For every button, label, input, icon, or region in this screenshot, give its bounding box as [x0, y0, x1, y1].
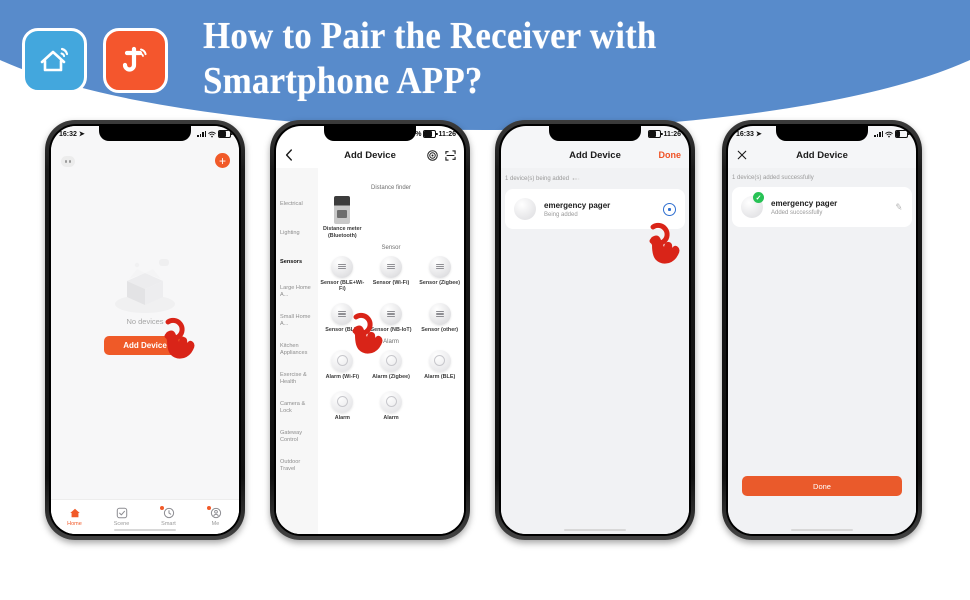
battery-icon: [895, 130, 908, 138]
device-label: Sensor (other): [421, 327, 458, 334]
adding-status-text: 1 device(s) being added: [501, 168, 689, 189]
tab-me-label: Me: [212, 521, 220, 527]
group-title-alarm: Alarm: [318, 339, 464, 345]
home-indicator: [791, 529, 853, 532]
notch: [776, 126, 868, 141]
category-outdoor-travel[interactable]: Outdoor Travel: [276, 451, 318, 480]
close-button[interactable]: [737, 150, 747, 160]
added-status-text: 1 device(s) added successfully: [728, 168, 916, 187]
notch: [324, 126, 416, 141]
alarm-icon: [331, 391, 353, 413]
device-orb-icon: ✓: [741, 196, 763, 218]
device-alarm-ble[interactable]: Alarm (BLE): [415, 350, 464, 381]
device-card-text: emergency pager Being added: [544, 201, 655, 218]
profile-icon: [210, 507, 222, 519]
sensor-icon: [331, 256, 353, 278]
device-alarm-wifi[interactable]: Alarm (Wi-Fi): [318, 350, 367, 381]
title-line-2: Smartphone APP?: [203, 59, 657, 104]
device-orb-icon: [514, 198, 536, 220]
pencil-icon[interactable]: ✎: [895, 201, 904, 213]
notch: [549, 126, 641, 141]
phone-1-screen: 16:32 ➤ +: [51, 126, 239, 534]
tab-scene-label: Scene: [114, 521, 130, 527]
tab-me[interactable]: Me: [192, 507, 239, 527]
device-status: Added successfully: [771, 210, 887, 216]
device-card[interactable]: ✓ emergency pager Added successfully ✎: [732, 187, 912, 227]
device-label: Alarm (Wi-Fi): [326, 374, 360, 381]
status-time: 16:32: [59, 131, 77, 138]
phone-3-content: 1 device(s) being added emergency pager …: [501, 168, 689, 534]
devices-chip-icon[interactable]: [61, 156, 75, 167]
device-status: Being added: [544, 212, 655, 218]
empty-state: No devices Add Device: [51, 251, 239, 355]
app-bar-4: Add Device: [728, 142, 916, 168]
phone-4-screen: 16:33 ➤ Add Device 1 device(s) added suc…: [728, 126, 916, 534]
device-alarm-zigbee[interactable]: Alarm (Zigbee): [367, 350, 416, 381]
app-bar-2: Add Device: [276, 142, 464, 168]
phone-mockup-4: 16:33 ➤ Add Device 1 device(s) added suc…: [722, 120, 922, 540]
phone-1-bezel: 16:32 ➤ +: [49, 124, 241, 536]
home-toolbar: +: [51, 152, 239, 178]
sensor-icon: [331, 303, 353, 325]
phone-mockup-3: 11:26 Add Device Done 1 device(s) being …: [495, 120, 695, 540]
wifi-icon: [208, 131, 216, 138]
device-label: Alarm (BLE): [424, 374, 455, 381]
done-button[interactable]: Done: [742, 476, 902, 496]
device-alarm-5[interactable]: Alarm: [367, 391, 416, 422]
alarm-icon: [380, 391, 402, 413]
check-circle-icon: ✓: [753, 192, 764, 203]
page-title: How to Pair the Receiver with Smartphone…: [203, 14, 657, 104]
category-camera-lock[interactable]: Camera & Lock: [276, 393, 318, 422]
phone-4-content: 1 device(s) added successfully ✓ emergen…: [728, 168, 916, 534]
app-bar-title: Add Device: [569, 150, 621, 161]
device-sensor-wifi[interactable]: Sensor (Wi-Fi): [367, 256, 416, 294]
device-name: emergency pager: [771, 199, 887, 208]
signal-bars-icon: [197, 131, 206, 137]
tab-smart-badge: [160, 506, 164, 510]
device-card[interactable]: emergency pager Being added: [505, 189, 685, 229]
status-time: 16:33: [736, 131, 754, 138]
phone-4-bezel: 16:33 ➤ Add Device 1 device(s) added suc…: [726, 124, 918, 536]
scan-target-icon[interactable]: [427, 150, 438, 161]
qr-frame-icon[interactable]: [445, 150, 456, 161]
phone-mockup-1: 16:32 ➤ +: [45, 120, 245, 540]
smart-clock-icon: [163, 507, 175, 519]
grid-spacer: [367, 196, 416, 240]
signal-bars-icon: [874, 131, 883, 137]
device-grid: Distance finder Distance meter (Bluetoot…: [318, 168, 464, 534]
category-sidebar: Electrical Lighting Sensors Large Home A…: [276, 168, 318, 534]
device-distance-meter[interactable]: Distance meter (Bluetooth): [318, 196, 367, 240]
device-label: Sensor (Wi-Fi): [373, 280, 410, 287]
device-sensor-nb-iot[interactable]: Sensor (NB-IoT): [367, 303, 416, 334]
alarm-icon: [429, 350, 451, 372]
distance-meter-icon: [334, 196, 350, 224]
alarm-icon: [380, 350, 402, 372]
battery-icon: [648, 130, 661, 138]
category-gateway-control[interactable]: Gateway Control: [276, 422, 318, 451]
sensor-icon: [429, 303, 451, 325]
logo-group: [22, 28, 168, 93]
empty-box-icon: [99, 251, 191, 313]
phone-1-content: + No devices Add Device: [51, 126, 239, 534]
app-bar-title: Add Device: [344, 150, 396, 161]
grid-spacer: [415, 391, 464, 422]
sensor-icon: [380, 303, 402, 325]
notch: [99, 126, 191, 141]
category-small-home-appliances[interactable]: Small Home A...: [276, 306, 318, 335]
title-line-1: How to Pair the Receiver with: [203, 14, 657, 59]
location-arrow-icon: ➤: [79, 130, 85, 138]
tab-scene[interactable]: Scene: [98, 507, 145, 527]
smart-home-icon: [37, 45, 73, 77]
home-indicator: [564, 529, 626, 532]
tuya-t-icon: [118, 45, 154, 77]
battery-icon: [423, 130, 436, 138]
battery-icon: [218, 130, 231, 138]
category-exercise-health[interactable]: Exercise & Health: [276, 364, 318, 393]
category-electrical[interactable]: Electrical: [276, 190, 318, 219]
device-label: Alarm: [335, 415, 350, 422]
device-label: Alarm (Zigbee): [372, 374, 410, 381]
device-label: Sensor (Zigbee): [419, 280, 460, 287]
tuya-logo: [103, 28, 168, 93]
tab-smart-label: Smart: [161, 521, 176, 527]
status-time: 11:26: [438, 131, 456, 138]
tab-home-label: Home: [67, 521, 82, 527]
group-title-sensor: Sensor: [318, 245, 464, 251]
device-label: Sensor (NB-IoT): [370, 327, 411, 334]
loading-spinner-icon: [663, 203, 676, 216]
add-device-button[interactable]: Add Device: [104, 336, 186, 355]
sensor-icon: [380, 256, 402, 278]
wifi-icon: [885, 131, 893, 138]
device-sensor-zigbee[interactable]: Sensor (Zigbee): [415, 256, 464, 294]
scene-check-icon: [116, 507, 128, 519]
tab-smart[interactable]: Smart: [145, 507, 192, 527]
device-label: Distance meter (Bluetooth): [318, 226, 367, 240]
device-label: Alarm: [383, 415, 398, 422]
alarm-icon: [331, 350, 353, 372]
home-indicator: [114, 529, 176, 532]
loading-dots-icon: [572, 175, 580, 183]
device-sensor-other[interactable]: Sensor (other): [415, 303, 464, 334]
device-sensor-ble[interactable]: Sensor (BLE): [318, 303, 367, 334]
grid-spacer: [415, 196, 464, 240]
app-bar-title: Add Device: [796, 150, 848, 161]
device-label: Sensor (BLE): [325, 327, 359, 334]
sensor-icon: [429, 256, 451, 278]
smart-life-logo: [22, 28, 87, 93]
close-x-icon: [737, 150, 747, 160]
location-arrow-icon: ➤: [756, 130, 762, 138]
phone-3-bezel: 11:26 Add Device Done 1 device(s) being …: [499, 124, 691, 536]
device-row: Alarm Alarm: [318, 391, 464, 422]
app-bar-3: Add Device Done: [501, 142, 689, 168]
device-row: Distance meter (Bluetooth): [318, 196, 464, 240]
phone-2-bezel: % 11:26 Add Device Electrical Lighting: [274, 124, 466, 536]
device-name: emergency pager: [544, 201, 655, 210]
back-button[interactable]: [285, 149, 293, 161]
phone-mockup-2: % 11:26 Add Device Electrical Lighting: [270, 120, 470, 540]
home-icon: [69, 507, 81, 519]
device-row: Sensor (BLE) Sensor (NB-IoT) Sensor (oth…: [318, 303, 464, 334]
device-alarm-4[interactable]: Alarm: [318, 391, 367, 422]
added-status-label: 1 device(s) added successfully: [732, 175, 814, 181]
battery-pct-label: %: [415, 131, 421, 138]
empty-state-text: No devices: [51, 317, 239, 326]
device-row: Sensor (BLE+Wi-Fi) Sensor (Wi-Fi) Sensor…: [318, 256, 464, 294]
category-sensors[interactable]: Sensors: [276, 248, 318, 277]
tab-home[interactable]: Home: [51, 507, 98, 527]
device-sensor-ble-wifi[interactable]: Sensor (BLE+Wi-Fi): [318, 256, 367, 294]
phone-3-screen: 11:26 Add Device Done 1 device(s) being …: [501, 126, 689, 534]
device-card-text: emergency pager Added successfully: [771, 199, 887, 216]
phone-2-screen: % 11:26 Add Device Electrical Lighting: [276, 126, 464, 534]
status-time: 11:26: [663, 131, 681, 138]
plus-icon[interactable]: +: [215, 153, 230, 168]
adding-status-label: 1 device(s) being added: [505, 176, 569, 182]
tab-me-badge: [207, 506, 211, 510]
chevron-left-icon: [285, 149, 293, 161]
phone-2-content: Electrical Lighting Sensors Large Home A…: [276, 168, 464, 534]
device-label: Sensor (BLE+Wi-Fi): [318, 280, 367, 294]
done-link[interactable]: Done: [659, 150, 682, 160]
category-large-home-appliances[interactable]: Large Home A...: [276, 277, 318, 306]
category-lighting[interactable]: Lighting: [276, 219, 318, 248]
device-row: Alarm (Wi-Fi) Alarm (Zigbee) Alarm (BLE): [318, 350, 464, 381]
category-kitchen-appliances[interactable]: Kitchen Appliances: [276, 335, 318, 364]
group-title-distance-finder: Distance finder: [318, 185, 464, 191]
